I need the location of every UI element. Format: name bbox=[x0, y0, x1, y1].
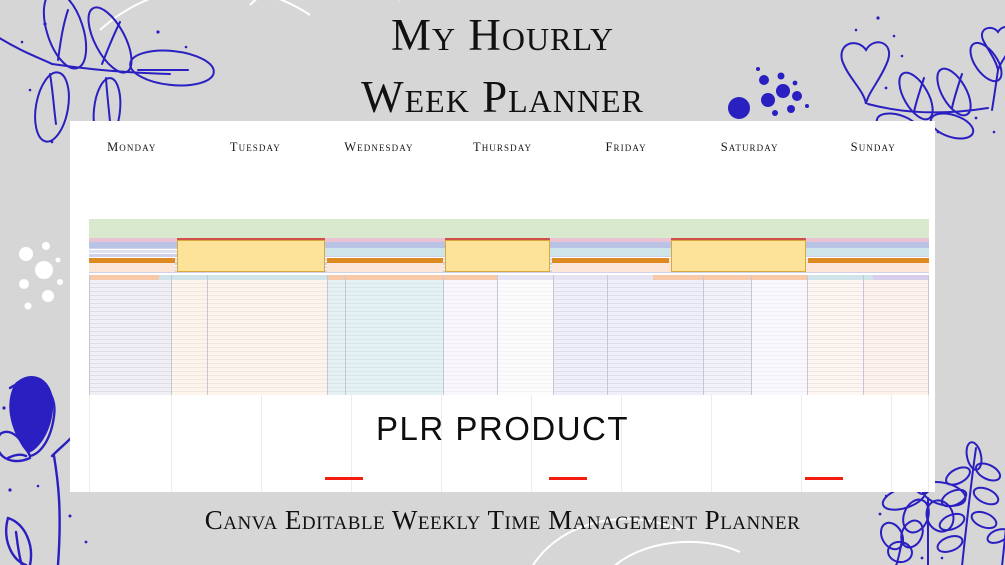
grid-column-tint bbox=[207, 275, 327, 395]
grid-column-tint bbox=[443, 275, 497, 395]
grid-column-line bbox=[751, 275, 752, 395]
grid-yellow-block bbox=[445, 240, 550, 272]
red-dash bbox=[805, 477, 843, 480]
grid-column-tint bbox=[807, 275, 863, 395]
grid-column-tint bbox=[89, 275, 171, 395]
grid-yellow-block bbox=[671, 240, 806, 272]
grid-column-line bbox=[807, 275, 808, 395]
grid-column-tint bbox=[703, 275, 751, 395]
poster-canvas: My Hourly Week Planner Monday Tuesday We… bbox=[0, 0, 1005, 565]
grid-column-line bbox=[553, 275, 554, 395]
grid-column-line bbox=[497, 275, 498, 395]
day-header-saturday: Saturday bbox=[688, 134, 812, 160]
day-header-tuesday: Tuesday bbox=[194, 134, 318, 160]
grid-column-tint bbox=[607, 275, 703, 395]
grid-column-cap bbox=[653, 275, 807, 280]
grid-yellow-block bbox=[177, 240, 325, 272]
grid-column-line bbox=[171, 275, 172, 395]
title-line-2: Week Planner bbox=[0, 66, 1005, 128]
grid-column-cap bbox=[497, 275, 653, 280]
title-line-1: My Hourly bbox=[0, 4, 1005, 66]
grid-column-line bbox=[89, 275, 90, 395]
grid-teal-block bbox=[325, 248, 445, 256]
grid-column-tint bbox=[497, 275, 553, 395]
grid-column-cap bbox=[327, 275, 497, 280]
grid-header-band bbox=[89, 219, 929, 238]
grid-orange-bar bbox=[808, 258, 929, 263]
grid-column-line bbox=[703, 275, 704, 395]
caption-text: Canva Editable Weekly Time Management Pl… bbox=[0, 494, 1005, 554]
grid-body bbox=[89, 275, 929, 395]
grid-column-cap bbox=[159, 275, 327, 280]
day-header-wednesday: Wednesday bbox=[317, 134, 441, 160]
grid-orange-bar bbox=[89, 258, 175, 263]
day-header-friday: Friday bbox=[564, 134, 688, 160]
grid-column-cap bbox=[873, 275, 929, 280]
grid-column-line bbox=[327, 275, 328, 395]
grid-column-line bbox=[928, 275, 929, 395]
dot-speckle-left bbox=[14, 240, 74, 320]
grid-column-tint bbox=[751, 275, 807, 395]
grid-top-rows bbox=[89, 238, 929, 273]
grid-orange-bar bbox=[552, 258, 669, 263]
grid-column-tint bbox=[171, 275, 207, 395]
red-dash bbox=[549, 477, 587, 480]
grid-orange-bar bbox=[327, 258, 443, 263]
day-header-monday: Monday bbox=[70, 134, 194, 160]
planner-grid-preview[interactable] bbox=[89, 219, 929, 395]
grid-column-line bbox=[443, 275, 444, 395]
grid-teal-block bbox=[549, 248, 671, 256]
day-header-sunday: Sunday bbox=[811, 134, 935, 160]
weekday-header-row: Monday Tuesday Wednesday Thursday Friday… bbox=[70, 134, 935, 160]
grid-column-tint bbox=[327, 275, 345, 395]
grid-column-line bbox=[607, 275, 608, 395]
day-header-thursday: Thursday bbox=[441, 134, 565, 160]
grid-column-tint bbox=[553, 275, 607, 395]
grid-teal-block bbox=[806, 248, 929, 256]
grid-column-line bbox=[345, 275, 346, 395]
grid-column-line bbox=[863, 275, 864, 395]
red-dash bbox=[325, 477, 363, 480]
grid-column-tint bbox=[863, 275, 929, 395]
watermark-text: PLR PRODUCT bbox=[0, 410, 1005, 448]
grid-column-tint bbox=[345, 275, 443, 395]
grid-column-cap bbox=[89, 275, 159, 280]
page-title: My Hourly Week Planner bbox=[0, 4, 1005, 128]
grid-column-line bbox=[207, 275, 208, 395]
